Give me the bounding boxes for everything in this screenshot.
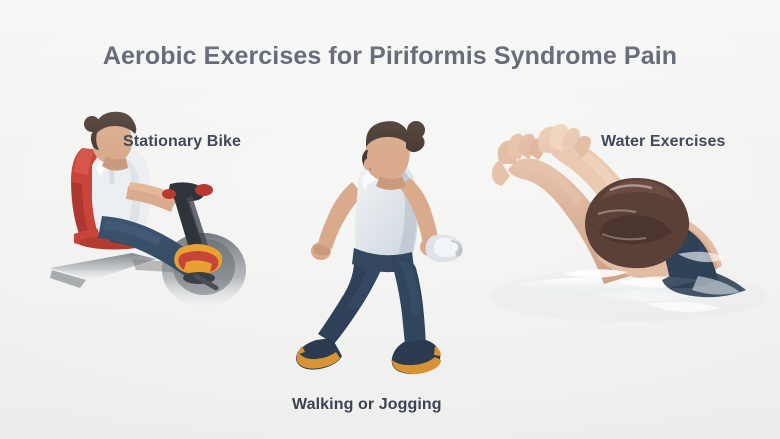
walking-illustration [292,120,488,385]
water-bottle [426,235,464,262]
infographic-canvas: Aerobic Exercises for Piriformis Syndrom… [0,0,780,439]
swimmer-head [585,178,689,268]
water-exercises-illustration [478,126,768,326]
label-walking-jogging: Walking or Jogging [292,396,442,414]
label-stationary-bike: Stationary Bike [123,133,241,151]
walker-front-shoe [392,340,441,374]
walker-back-shoe [296,338,342,370]
label-water-exercises: Water Exercises [601,133,726,151]
page-title: Aerobic Exercises for Piriformis Syndrom… [0,42,780,71]
walker-head [362,121,425,181]
